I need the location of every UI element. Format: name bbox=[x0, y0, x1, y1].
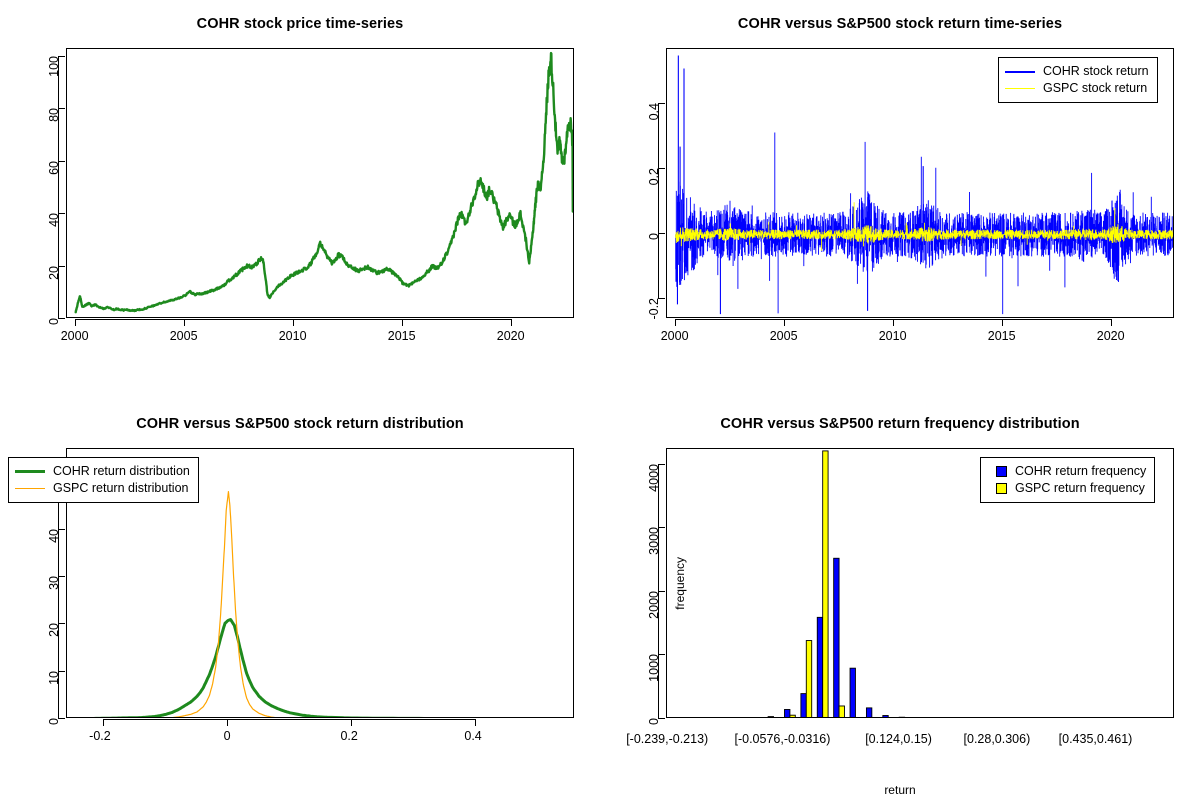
cohr-bar bbox=[817, 617, 822, 718]
legend-label: COHR return distribution bbox=[53, 463, 190, 480]
legend-item: GSPC return distribution bbox=[15, 480, 190, 497]
legend-label: GSPC return frequency bbox=[1015, 480, 1145, 497]
legend-line-swatch bbox=[1005, 71, 1035, 73]
y-axis-spine bbox=[58, 56, 59, 318]
legend-item: GSPC stock return bbox=[1005, 80, 1149, 97]
panel-return-timeseries: COHR versus S&P500 stock return time-ser… bbox=[600, 0, 1200, 400]
panel1-canvas bbox=[67, 49, 574, 318]
axis-tick bbox=[1111, 319, 1112, 326]
legend-line-swatch bbox=[1005, 88, 1035, 89]
cohr-bar bbox=[850, 668, 855, 718]
panel4-bin-label: [0.124,0.15) bbox=[865, 732, 932, 746]
cohr-bar bbox=[883, 716, 888, 718]
legend-label: GSPC return distribution bbox=[53, 480, 188, 497]
legend-item: COHR stock return bbox=[1005, 63, 1149, 80]
x-axis-spine bbox=[675, 319, 1111, 320]
panel4-bin-label: [0.435,0.461) bbox=[1059, 732, 1133, 746]
gspc-bar bbox=[806, 641, 811, 718]
y-axis-spine bbox=[58, 481, 59, 718]
panel1-x-tick-label: 2000 bbox=[61, 329, 89, 343]
panel1-x-tick-label: 2005 bbox=[170, 329, 198, 343]
panel3-title: COHR versus S&P500 stock return distribu… bbox=[0, 416, 600, 432]
panel4-bin-label: [-0.239,-0.213) bbox=[626, 732, 708, 746]
legend-box-swatch bbox=[996, 483, 1007, 494]
legend-item: COHR return distribution bbox=[15, 463, 190, 480]
panel2-x-tick-label: 2005 bbox=[770, 329, 798, 343]
panel4-bin-label: [0.28,0.306) bbox=[964, 732, 1031, 746]
price-line bbox=[76, 53, 573, 312]
panel1-x-tick-label: 2015 bbox=[388, 329, 416, 343]
legend-line-swatch bbox=[15, 470, 45, 473]
panel2-x-tick-label: 2020 bbox=[1097, 329, 1125, 343]
panel3-x-tick-label: 0 bbox=[224, 729, 231, 743]
gspc-bar bbox=[839, 706, 844, 718]
panel2-title: COHR versus S&P500 stock return time-ser… bbox=[600, 16, 1200, 32]
axis-tick bbox=[675, 319, 676, 326]
axis-tick bbox=[511, 319, 512, 326]
cohr-bar bbox=[834, 558, 839, 718]
legend-label: COHR return frequency bbox=[1015, 463, 1146, 480]
cohr-bar bbox=[899, 717, 904, 718]
axis-tick bbox=[475, 719, 476, 726]
panel2-x-tick-label: 2000 bbox=[661, 329, 689, 343]
y-axis-spine bbox=[658, 103, 659, 298]
y-axis-spine bbox=[658, 464, 659, 718]
gspc-bar bbox=[790, 715, 795, 718]
legend-item: GSPC return frequency bbox=[987, 480, 1146, 497]
legend-line-swatch bbox=[15, 488, 45, 489]
gspc-density-curve bbox=[141, 492, 302, 718]
gspc-bar bbox=[823, 451, 828, 718]
panel4-y-axis-title: frequency bbox=[673, 557, 687, 637]
axis-tick bbox=[227, 719, 228, 726]
x-axis-spine bbox=[103, 719, 475, 720]
panel1-title: COHR stock price time-series bbox=[0, 16, 600, 32]
panel3-x-tick-label: 0.2 bbox=[340, 729, 357, 743]
panel1-y-tick-label: 0 bbox=[47, 318, 61, 325]
panel1-x-tick-label: 2010 bbox=[279, 329, 307, 343]
panel-cohr-price: COHR stock price time-series 02040608010… bbox=[0, 0, 600, 400]
axis-tick bbox=[1002, 319, 1003, 326]
axis-tick bbox=[293, 319, 294, 326]
panel4-title: COHR versus S&P500 return frequency dist… bbox=[600, 416, 1200, 432]
x-axis-spine bbox=[75, 319, 511, 320]
panel3-legend: COHR return distributionGSPC return dist… bbox=[8, 457, 199, 503]
legend-label: COHR stock return bbox=[1043, 63, 1149, 80]
panel3-x-tick-label: 0.4 bbox=[464, 729, 481, 743]
axis-tick bbox=[893, 319, 894, 326]
legend-label: GSPC stock return bbox=[1043, 80, 1147, 97]
panel4-legend: COHR return frequencyGSPC return frequen… bbox=[980, 457, 1155, 503]
legend-item: COHR return frequency bbox=[987, 463, 1146, 480]
panel1-x-tick-label: 2020 bbox=[497, 329, 525, 343]
panel4-y-tick-label: 0 bbox=[647, 718, 661, 725]
panel-return-distribution: COHR versus S&P500 stock return distribu… bbox=[0, 400, 600, 800]
cohr-bar bbox=[785, 709, 790, 718]
panel3-x-tick-label: -0.2 bbox=[89, 729, 111, 743]
panel3-y-tick-label: 0 bbox=[47, 718, 61, 725]
panel2-y-tick-label: -0.2 bbox=[647, 298, 661, 320]
panel-return-frequency: COHR versus S&P500 return frequency dist… bbox=[600, 400, 1200, 800]
axis-tick bbox=[784, 319, 785, 326]
axis-tick bbox=[402, 319, 403, 326]
cohr-bar bbox=[801, 694, 806, 718]
panel2-legend: COHR stock returnGSPC stock return bbox=[998, 57, 1158, 103]
axis-tick bbox=[75, 319, 76, 326]
legend-box-swatch bbox=[996, 466, 1007, 477]
cohr-bar bbox=[866, 708, 871, 718]
panel4-bin-label: [-0.0576,-0.0316) bbox=[735, 732, 831, 746]
axis-tick bbox=[184, 319, 185, 326]
panel2-x-tick-label: 2015 bbox=[988, 329, 1016, 343]
panel1-plot-frame bbox=[66, 48, 574, 318]
panel2-x-tick-label: 2010 bbox=[879, 329, 907, 343]
cohr-bar bbox=[768, 717, 773, 718]
axis-tick bbox=[351, 719, 352, 726]
cohr-density-curve bbox=[67, 620, 569, 719]
panel4-x-axis-title: return bbox=[600, 783, 1200, 797]
axis-tick bbox=[103, 719, 104, 726]
plot-grid: COHR stock price time-series 02040608010… bbox=[0, 0, 1200, 800]
